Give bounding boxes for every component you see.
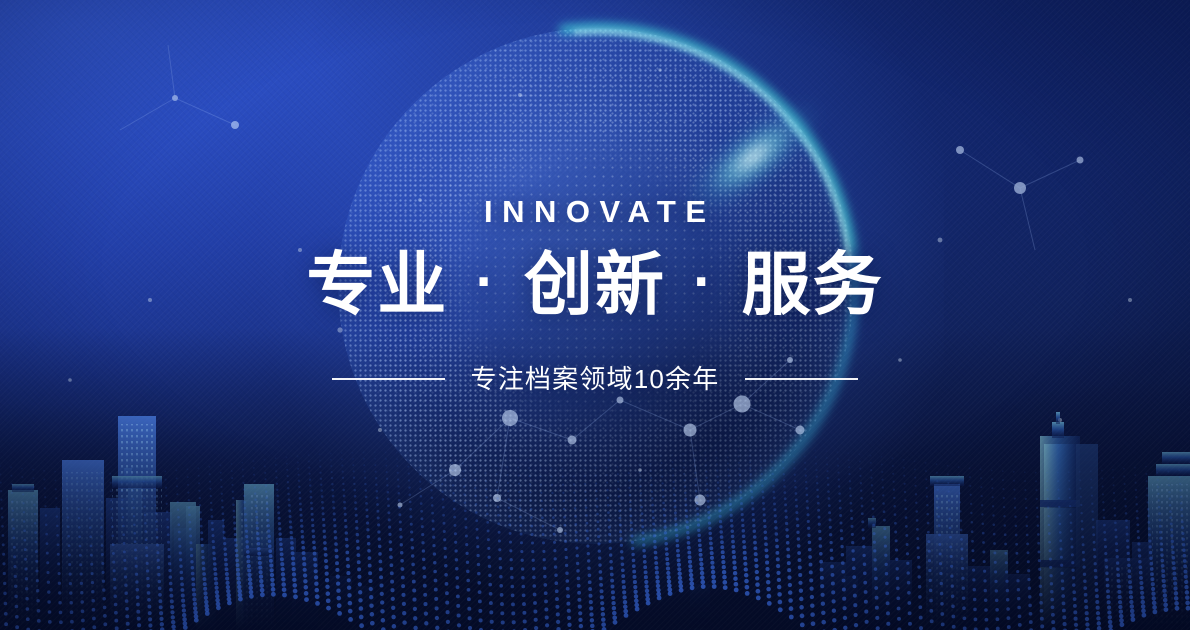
divider-rule-left	[332, 378, 445, 380]
dotted-wave-mesh	[0, 430, 1190, 630]
headline-part-2: 创新	[524, 246, 666, 323]
hero-banner: INNOVATE 专业 · 创新 · 服务 专注档案领域10余年	[0, 0, 1190, 630]
page-title: 专业 · 创新 · 服务	[0, 249, 1190, 321]
headline-separator-1: ·	[470, 252, 503, 312]
divider-rule-right	[745, 378, 858, 380]
headline-separator-2: ·	[687, 252, 720, 312]
headline-part-3: 服务	[742, 246, 884, 323]
subtitle-row: 专注档案领域10余年	[0, 366, 1190, 392]
subtitle-text: 专注档案领域10余年	[471, 366, 720, 392]
headline-part-1: 专业	[306, 246, 448, 323]
eyebrow-text: INNOVATE	[0, 196, 1190, 227]
city-skyline-silhouette	[0, 380, 1190, 630]
